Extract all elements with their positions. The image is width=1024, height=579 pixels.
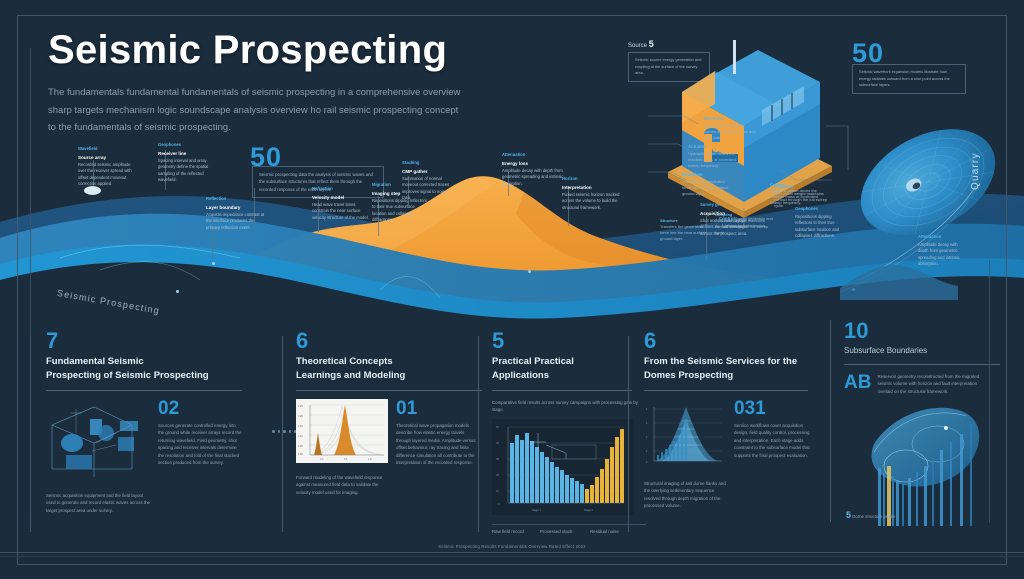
svg-text:0.25: 0.25 (298, 405, 303, 408)
hero-callout: Geophones Receiver line Spacing interval… (158, 142, 220, 184)
amplitude-line-chart: 0.250.200.15 0.100.050.00 0.00.51.0 (296, 399, 388, 463)
panel-applications[interactable]: 5 Practical Practical Applications Compa… (478, 330, 646, 552)
iso-annotation: StructureUpper frame assembly carries th… (704, 116, 756, 141)
panel-title: Fundamental Seismic Prospecting of Seism… (46, 355, 246, 383)
chart-legend-item: Raw field record (492, 528, 534, 536)
panel-divider (492, 390, 632, 391)
panel-divider (844, 364, 1000, 365)
footer-divider (0, 552, 1024, 553)
chart-legend-item: Processed stack (540, 528, 584, 536)
svg-text:3: 3 (646, 422, 648, 425)
header: Seismic Prospecting The fundamentals fun… (48, 30, 688, 137)
panel-title: Subsurface Boundaries (844, 345, 1016, 357)
panel-divider (644, 390, 808, 391)
dome-profile-chart: 43 210 (644, 399, 726, 469)
svg-text:0.15: 0.15 (298, 425, 303, 428)
iso-footnote: Coupling Hold down weight maintains cont… (715, 212, 769, 236)
panel-rule (282, 336, 283, 532)
panel-body-right: Sources generate controlled energy into … (158, 422, 242, 467)
iso-footnote: Structure Transfers the generated force … (660, 218, 712, 242)
hero-callout: Horizon Interpretation Picked seismic ho… (562, 176, 620, 211)
svg-text:Stage 2: Stage 2 (584, 508, 593, 512)
panel-rule (478, 336, 479, 532)
panel-title: Theoretical Concepts Learnings and Model… (296, 355, 496, 383)
processing-gain-bar-chart: 504030 20100 Stage 1Stage 2 (492, 419, 634, 515)
panel-number: 6 (644, 330, 822, 352)
panel-number: 7 (46, 330, 268, 352)
content-frame-left (30, 48, 31, 513)
footer-note: Seismic Prospecting Results Fundamentals… (0, 544, 1024, 549)
isometric-source-diagram: Source 5 Seismic source energy generatio… (620, 30, 860, 240)
panel-rule (830, 320, 831, 522)
hero-callout: Stacking CMP gather Summation of normal … (402, 160, 456, 202)
wave-marker-icon (212, 262, 215, 265)
panel-number: 6 (296, 330, 496, 352)
hero-callout: Reflection Layer boundary Acoustic imped… (206, 196, 266, 231)
panel-divider (296, 390, 482, 391)
panel-body-left: Structural imaging of salt dome flanks a… (644, 480, 726, 510)
panel-fundamentals[interactable]: 7 Fundamental Seismic Prospecting of Sei… (30, 330, 268, 552)
panel-body-right: Service workflows cover acquisition desi… (734, 422, 812, 460)
infographic-canvas: Seismic prospecting Wavefield Source arr… (0, 0, 1024, 579)
panel-body-left: Seismic acquisition equipment and the fi… (46, 492, 150, 515)
svg-text:0.10: 0.10 (298, 435, 303, 438)
panel-row: 7 Fundamental Seismic Prospecting of Sei… (30, 330, 1010, 560)
iso-annotation: ActuatorHydraulic piston drives the reac… (688, 144, 740, 169)
panel-theory[interactable]: 6 Theoretical Concepts Learnings and Mod… (282, 330, 496, 552)
panel-sub-number: 031 (734, 399, 812, 418)
hero-callout: Attenuation Energy loss Amplitude decay … (502, 152, 564, 187)
panel-title: From the Seismic Services for the Domes … (644, 355, 822, 383)
footer-divider-2 (0, 556, 1024, 557)
panel-divider (46, 390, 242, 391)
hero-callout: Refraction Velocity model Head wave trav… (312, 186, 370, 221)
page-subtitle: The fundamentals fundamental fundamental… (48, 84, 468, 137)
wavefront-disc-diagram: 50 Seismic wavefront expansion models il… (840, 30, 1024, 300)
wave-label-right: Quarry (970, 152, 981, 190)
svg-text:0.00: 0.00 (298, 453, 303, 456)
panel-body-left: Comparative field results across survey … (492, 399, 646, 414)
iso-annotation: BaseplateTransfers the generated force i… (682, 172, 734, 197)
svg-text:2: 2 (646, 436, 648, 439)
hero-callout: Wavefield Source array Recorded seismic … (78, 146, 138, 188)
panel-title: Practical Practical Applications (492, 355, 646, 383)
disc-sub-callout: Attenuation Amplitude decay with depth f… (918, 234, 962, 268)
equipment-diagram (46, 399, 150, 481)
panel-body-left: Forward modeling of the wavefield respon… (296, 474, 388, 497)
svg-text:1: 1 (646, 450, 648, 453)
panel-number: 10 (844, 320, 1016, 342)
panel-body-right: Theoretical wave propagation models desc… (396, 422, 478, 467)
iso-footnote: Control Hydraulic piston drives the reac… (770, 182, 822, 206)
panel-number: 5 (492, 330, 646, 352)
panel-sub-number: 02 (158, 399, 242, 418)
page-title: Seismic Prospecting (48, 30, 688, 70)
svg-text:Stage 1: Stage 1 (532, 508, 541, 512)
svg-text:0.05: 0.05 (298, 445, 303, 448)
svg-text:0: 0 (646, 461, 648, 464)
content-frame-right (989, 260, 990, 523)
wave-marker-icon (528, 270, 531, 273)
panel-legend: 5 Dome structure profile (846, 508, 906, 523)
svg-text:0.20: 0.20 (298, 415, 303, 418)
wave-marker-icon (176, 290, 179, 293)
panel-rule (628, 336, 629, 532)
svg-text:4: 4 (646, 408, 648, 411)
panel-services[interactable]: 6 From the Seismic Services for the Dome… (628, 330, 822, 552)
panel-sub-number: 01 (396, 399, 478, 418)
